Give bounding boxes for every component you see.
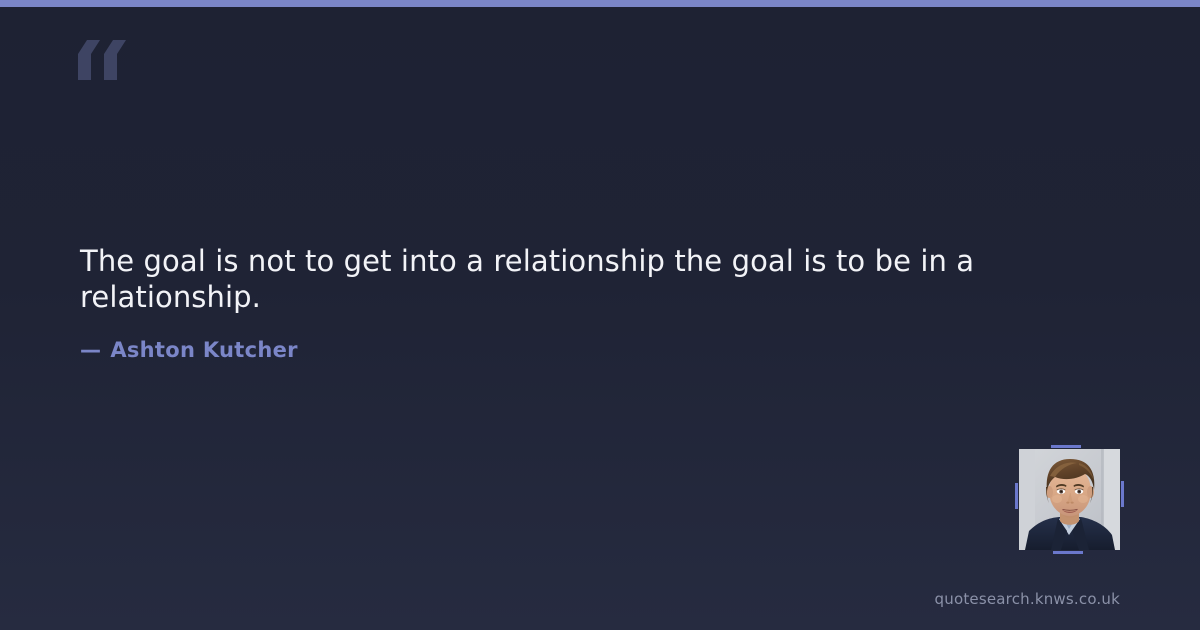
portrait-accent-tick-bottom xyxy=(1053,551,1083,554)
author-portrait-photo xyxy=(1019,449,1120,550)
author-portrait xyxy=(1019,449,1120,550)
portrait-accent-tick-left xyxy=(1015,483,1018,509)
author-name: Ashton Kutcher xyxy=(110,338,298,362)
portrait-accent-tick-top xyxy=(1051,445,1081,448)
open-quote-icon xyxy=(78,40,130,80)
author-attribution: —Ashton Kutcher xyxy=(80,338,298,362)
source-url: quotesearch.knws.co.uk xyxy=(935,590,1120,608)
portrait-accent-tick-right xyxy=(1121,481,1124,507)
author-dash: — xyxy=(80,338,101,362)
quote-card: The goal is not to get into a relationsh… xyxy=(0,0,1200,630)
top-accent-bar xyxy=(0,0,1200,7)
quote-text: The goal is not to get into a relationsh… xyxy=(80,243,1010,315)
